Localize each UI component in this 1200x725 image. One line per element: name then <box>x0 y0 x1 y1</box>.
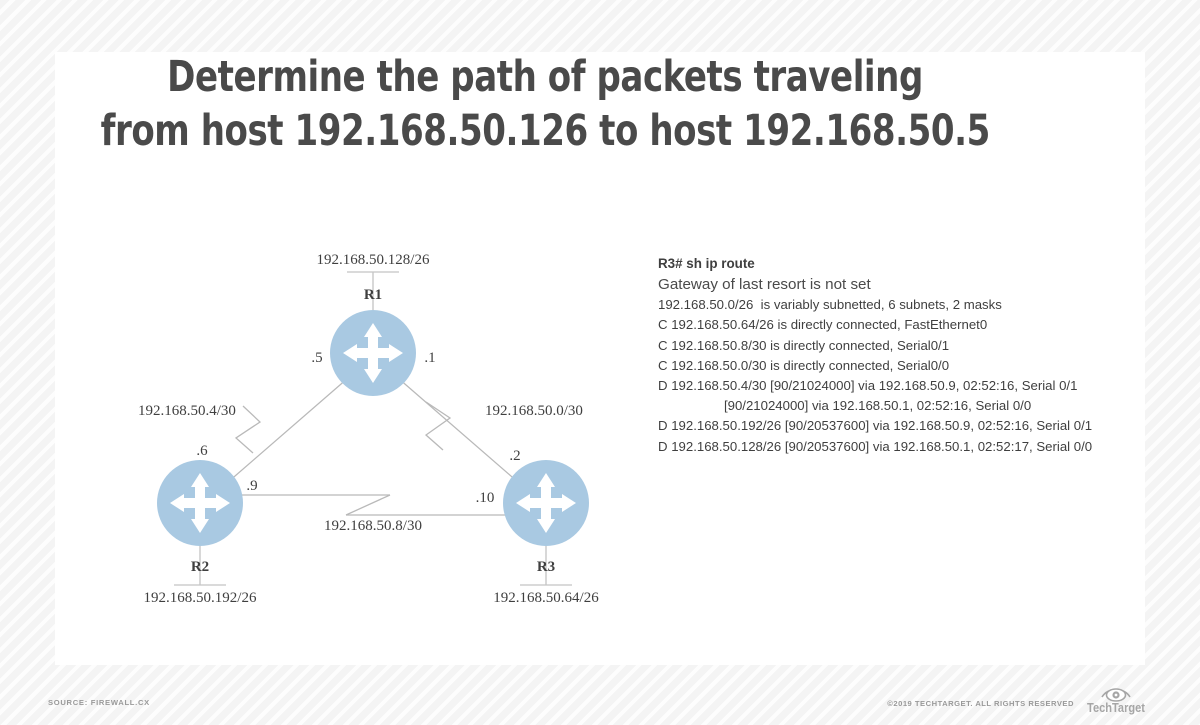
routing-line: D 192.168.50.192/26 [90/20537600] via 19… <box>658 416 1118 436</box>
link-r2-r3-subnet: 192.168.50.8/30 <box>324 518 422 534</box>
router-r1 <box>330 310 416 396</box>
interface-r2-to-r1: .6 <box>196 443 208 459</box>
screenshot-root: Determine the path of packets traveling … <box>0 0 1200 725</box>
link-r2-r3 <box>236 495 510 515</box>
routing-line: 192.168.50.0/26 is variably subnetted, 6… <box>658 295 1118 315</box>
routing-prompt: R3# sh ip route <box>658 254 1118 274</box>
network-diagram: R1 192.168.50.128/26 R2 192.168.50.192/2… <box>60 190 660 610</box>
routing-line: C 192.168.50.0/30 is directly connected,… <box>658 356 1118 376</box>
interface-r1-to-r2: .5 <box>311 350 322 366</box>
routing-line: C 192.168.50.64/26 is directly connected… <box>658 315 1118 335</box>
router-r2 <box>157 460 243 546</box>
router-r3-label: R3 <box>537 559 555 575</box>
interface-r3-to-r2: .10 <box>476 490 495 506</box>
router-r2-network: 192.168.50.192/26 <box>144 590 257 606</box>
routing-line: D 192.168.50.128/26 [90/20537600] via 19… <box>658 437 1118 457</box>
router-r3 <box>503 460 589 546</box>
techtarget-logo: TechTarget <box>1080 684 1152 716</box>
page-title-line-1: Determine the path of packets traveling <box>101 50 990 104</box>
router-r1-network: 192.168.50.128/26 <box>317 252 430 268</box>
interface-r3-to-r1: .2 <box>509 448 520 464</box>
interface-r2-to-r3: .9 <box>246 478 257 494</box>
page-title-line-2: from host 192.168.50.126 to host 192.168… <box>101 104 990 158</box>
techtarget-wordmark: TechTarget <box>1085 700 1146 715</box>
routing-gateway: Gateway of last resort is not set <box>658 274 1118 295</box>
link-r1-r2-subnet: 192.168.50.4/30 <box>138 403 236 419</box>
router-r2-label: R2 <box>191 559 209 575</box>
link-r1-r3-subnet: 192.168.50.0/30 <box>485 403 583 419</box>
page-title: Determine the path of packets traveling … <box>101 50 990 158</box>
routing-line: D 192.168.50.4/30 [90/21024000] via 192.… <box>658 376 1118 396</box>
routing-line: C 192.168.50.8/30 is directly connected,… <box>658 336 1118 356</box>
source-attribution: SOURCE: FIREWALL.CX <box>48 698 150 707</box>
copyright-notice: ©2019 TECHTARGET. ALL RIGHTS RESERVED <box>887 699 1074 708</box>
router-r1-label: R1 <box>364 287 382 303</box>
interface-r1-to-r3: .1 <box>424 350 435 366</box>
routing-line: [90/21024000] via 192.168.50.1, 02:52:16… <box>658 396 1118 416</box>
router-r3-network: 192.168.50.64/26 <box>493 590 599 606</box>
routing-table-output: R3# sh ip route Gateway of last resort i… <box>658 254 1118 457</box>
